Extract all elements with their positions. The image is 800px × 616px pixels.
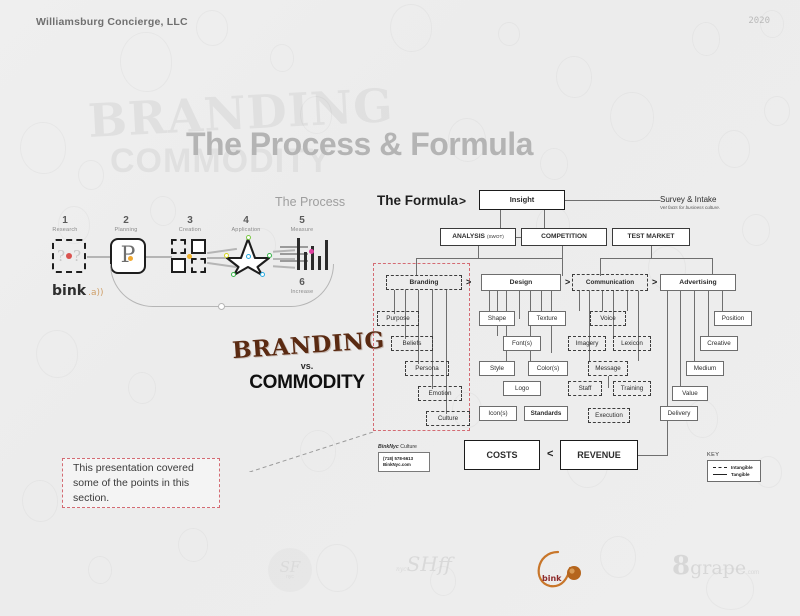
footer-logo-sf-primary: SF: [280, 561, 301, 574]
communication-box[interactable]: Communication: [572, 274, 648, 291]
key-legend: KEY Intangible Tangible: [707, 452, 761, 482]
contact-brand: BinkNyc: [378, 444, 399, 450]
process-step-5-number: 5: [275, 216, 329, 226]
process-step-2-caption: Planning: [99, 227, 153, 233]
adv-child-medium[interactable]: Medium: [686, 361, 724, 376]
adv-connector-creative: [708, 291, 709, 336]
insight-box[interactable]: Insight: [479, 190, 565, 210]
design-child-style[interactable]: Style: [479, 361, 515, 376]
costs-revenue-operator: <: [547, 448, 553, 460]
footer-logo-sf-nyc: SF nyc: [268, 548, 312, 592]
footer-logo-8grape: 8grape.com: [672, 554, 759, 579]
revenue-box[interactable]: REVENUE: [560, 440, 638, 470]
design-child-logo[interactable]: Logo: [503, 381, 541, 396]
adv-connector-delivery: [667, 291, 668, 411]
insight-competition-connector: [544, 210, 545, 228]
process-step-2: 2 Planning: [99, 216, 153, 233]
process-section-label: The Process: [275, 195, 345, 209]
formula-section-label: The Formula: [377, 193, 458, 208]
contact-brand-suffix: Culture: [400, 444, 417, 450]
comm-child-voice[interactable]: Voice: [590, 311, 626, 326]
process-step-2-number: 2: [99, 216, 153, 226]
adv-to-revenue-vertical: [667, 421, 668, 455]
insight-analysis-connector: [500, 210, 501, 228]
key-legend-label-tangible: Tangible: [731, 472, 750, 477]
process-connector-2-3: [146, 256, 172, 258]
process-step-4-number: 4: [219, 216, 273, 226]
contact-block: BinkNyc Culture (718) 578-6613 BinkNyc.c…: [378, 444, 430, 472]
competition-box[interactable]: COMPETITION: [521, 228, 607, 246]
comm-connector-lexicon: [627, 291, 628, 311]
adv-child-creative[interactable]: Creative: [700, 336, 738, 351]
presentation-note-callout: This presentation covered some of the po…: [62, 458, 220, 508]
branding-child-culture[interactable]: Culture: [426, 411, 470, 426]
footer-logo-8grape-primary: 8: [672, 551, 690, 581]
footer-logo-8grape-secondary: grape: [690, 557, 746, 579]
research-icon: ??: [52, 239, 86, 273]
design-communication-arrow-icon: >: [565, 277, 570, 287]
comm-child-message[interactable]: Message: [588, 361, 628, 376]
bvc-commodity-text: COMMODITY: [232, 372, 382, 394]
process-loop-node: [218, 303, 225, 310]
process-feedback-loop: [110, 264, 334, 307]
key-legend-row-tangible: Tangible: [713, 471, 755, 478]
footer-logo-shff-primary: SHff: [407, 552, 452, 576]
bink-logo-suffix: .a)): [88, 288, 103, 298]
comm-child-lexicon[interactable]: Lexicon: [613, 336, 651, 351]
design-child-texture[interactable]: Texture: [528, 311, 566, 326]
test-market-box[interactable]: TEST MARKET: [612, 228, 690, 246]
design-connector-logo: [530, 291, 531, 369]
bink-logo-text: bink: [52, 283, 86, 299]
survey-intake-annotation: Survey & Intake Vet facts for business c…: [660, 195, 720, 210]
dashed-line-icon: [713, 467, 727, 468]
solid-line-icon: [713, 474, 727, 475]
insight-survey-connector: [565, 200, 660, 201]
branding-child-persona[interactable]: Persona: [405, 361, 449, 376]
footer-logo-shff-nyc: nycSHff: [396, 552, 452, 576]
branding-box[interactable]: Branding: [386, 275, 462, 290]
adv-child-position[interactable]: Position: [714, 311, 752, 326]
design-child-colors[interactable]: Color(s): [528, 361, 568, 376]
branding-connector-persona: [418, 290, 419, 364]
key-legend-row-intangible: Intangible: [713, 464, 755, 471]
bvc-branding-text: BRANDING: [231, 327, 383, 364]
header-year: 2020: [748, 16, 770, 26]
design-child-standards[interactable]: Standards: [524, 406, 568, 421]
process-step-3-number: 3: [163, 216, 217, 226]
analysis-bus: [416, 258, 562, 259]
contact-details-box: (718) 578-6613 BinkNyc.com: [378, 452, 430, 472]
analysis-swot-box[interactable]: ANALYSIS(SWOT): [440, 228, 516, 246]
comm-connector-voice: [602, 291, 603, 311]
competition-to-design: [562, 246, 563, 276]
slide-canvas: BRANDING COMMODITY Williamsburg Concierg…: [0, 0, 800, 616]
key-legend-title: KEY: [707, 452, 761, 458]
process-step-1: 1 Research: [38, 216, 92, 233]
test-market-drop: [651, 246, 652, 258]
adv-connector-medium: [694, 291, 695, 361]
process-step-5-caption: Measure: [275, 227, 329, 233]
key-legend-box: Intangible Tangible: [707, 460, 761, 482]
branding-child-emotion[interactable]: Emotion: [418, 386, 462, 401]
analysis-label: ANALYSIS: [452, 233, 485, 241]
branding-design-arrow-icon: >: [466, 277, 471, 287]
communication-advertising-arrow-icon: >: [652, 277, 657, 287]
survey-intake-title: Survey & Intake: [660, 195, 720, 204]
footer-logo-shff-secondary: nyc: [396, 566, 407, 573]
comm-child-staff[interactable]: Staff: [568, 381, 602, 396]
presentation-note-text: This presentation covered some of the po…: [73, 461, 209, 506]
design-connector-shape: [489, 291, 490, 311]
note-leader-line: [225, 432, 375, 472]
design-box[interactable]: Design: [481, 274, 561, 291]
bink-logo: bink.a)): [52, 283, 104, 299]
adv-child-value[interactable]: Value: [672, 386, 708, 401]
advertising-box[interactable]: Advertising: [660, 274, 736, 291]
comm-child-imagery[interactable]: Imagery: [568, 336, 606, 351]
process-step-3-caption: Creation: [163, 227, 217, 233]
header-company-name: Williamsburg Concierge, LLC: [36, 16, 188, 28]
adv-to-revenue-horizontal: [638, 455, 668, 456]
adv-child-delivery[interactable]: Delivery: [660, 406, 698, 421]
footer-logo-bink-text: bink: [542, 574, 561, 583]
footer-logo-8grape-tertiary: .com: [746, 570, 759, 576]
adv-connector-value: [680, 291, 681, 386]
contact-brand-line: BinkNyc Culture: [378, 444, 430, 450]
analysis-competition-connector: [516, 237, 521, 238]
survey-intake-subtitle: Vet facts for business culture.: [660, 205, 720, 210]
comm-connector-execution: [608, 376, 609, 388]
process-step-4-caption: Application: [219, 227, 273, 233]
adv-connector-position: [722, 291, 723, 311]
footer-logo-bink: bink: [528, 548, 592, 590]
branding-child-beliefs[interactable]: Beliefs: [391, 336, 433, 351]
page-title: The Process & Formula: [186, 126, 533, 163]
design-child-fonts[interactable]: Font(s): [503, 336, 541, 351]
design-connector-fonts: [519, 291, 520, 319]
process-step-4: 4 Application: [219, 216, 273, 233]
analysis-drop: [478, 246, 479, 258]
contact-website[interactable]: BinkNyc.com: [383, 462, 425, 468]
process-connector-1-2: [87, 256, 110, 258]
costs-box[interactable]: COSTS: [464, 440, 540, 470]
process-step-5: 5 Measure: [275, 216, 329, 233]
design-connector-texture: [541, 291, 542, 311]
branding-child-purpose[interactable]: Purpose: [377, 311, 419, 326]
test-market-bus: [600, 258, 712, 259]
process-step-1-number: 1: [38, 216, 92, 226]
process-step-1-caption: Research: [38, 227, 92, 233]
comm-child-training[interactable]: Training: [613, 381, 651, 396]
design-child-icons[interactable]: Icon(s): [479, 406, 517, 421]
footer-logo-sf-secondary: nyc: [286, 574, 294, 580]
comm-connector-imagery: [579, 291, 580, 311]
branding-vs-commodity-art: BRANDING vs. COMMODITY: [232, 332, 382, 394]
formula-arrow-icon: >: [459, 194, 466, 208]
process-step-3: 3 Creation: [163, 216, 217, 233]
comm-child-execution[interactable]: Execution: [588, 408, 630, 423]
design-child-shape[interactable]: Shape: [479, 311, 515, 326]
analysis-sub: (SWOT): [487, 233, 504, 241]
key-legend-label-intangible: Intangible: [731, 465, 753, 470]
